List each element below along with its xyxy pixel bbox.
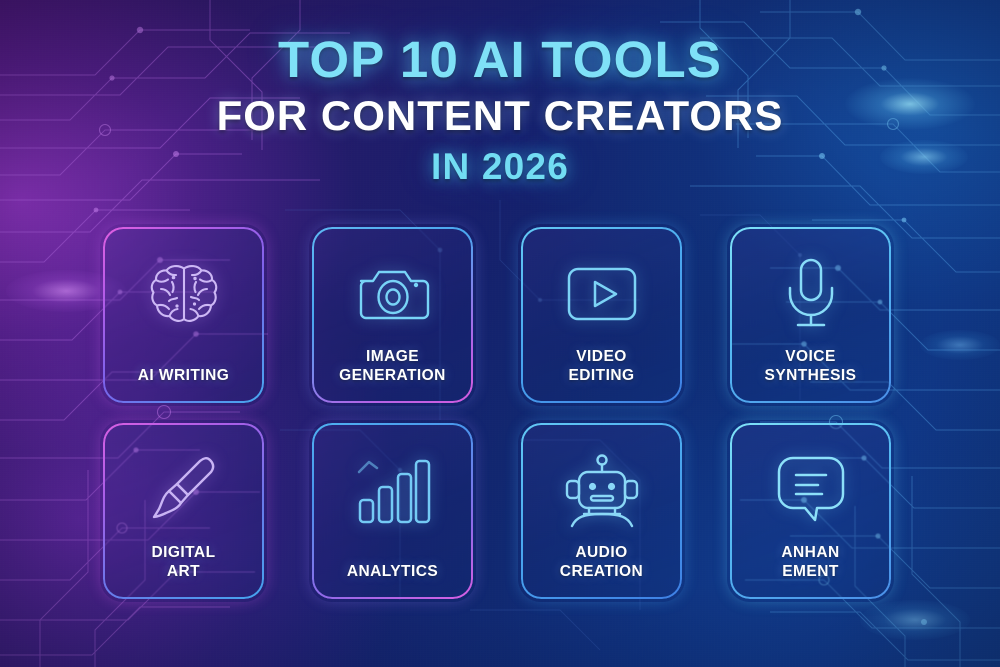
tool-card-video-editing[interactable]: VIDEO EDITING xyxy=(521,227,682,403)
tool-card-label: ANALYTICS xyxy=(347,563,438,581)
tool-card-label: VOICE SYNTHESIS xyxy=(765,348,857,385)
tool-card-grid: AI WRITING IMAGE GENERATION xyxy=(103,227,893,599)
bar-chart-icon xyxy=(320,443,465,537)
tool-card-ai-writing[interactable]: AI WRITING xyxy=(103,227,264,403)
title-line-3: IN 2026 xyxy=(0,148,1000,185)
tool-card-image-generation[interactable]: IMAGE GENERATION xyxy=(312,227,473,403)
tool-card-label: IMAGE GENERATION xyxy=(339,348,446,385)
tool-card-label: DIGITAL ART xyxy=(152,544,216,581)
tool-card-label: AI WRITING xyxy=(138,367,229,385)
camera-icon xyxy=(320,247,465,341)
poster-canvas: TOP 10 AI TOOLS FOR CONTENT CREATORS IN … xyxy=(0,0,1000,667)
title-line-1: TOP 10 AI TOOLS xyxy=(0,34,1000,85)
brain-icon xyxy=(111,247,256,341)
microphone-icon xyxy=(738,247,883,341)
poster-header: TOP 10 AI TOOLS FOR CONTENT CREATORS IN … xyxy=(0,34,1000,185)
title-line-2: FOR CONTENT CREATORS xyxy=(0,95,1000,137)
paintbrush-icon xyxy=(111,443,256,537)
tool-card-voice-synthesis[interactable]: VOICE SYNTHESIS xyxy=(730,227,891,403)
tool-card-label: VIDEO EDITING xyxy=(568,348,634,385)
tool-card-label: ANHAN EMENT xyxy=(781,544,839,581)
tool-card-enhancement[interactable]: ANHAN EMENT xyxy=(730,423,891,599)
tool-card-digital-art[interactable]: DIGITAL ART xyxy=(103,423,264,599)
glow-spot-center-right xyxy=(920,330,1000,360)
robot-icon xyxy=(529,443,674,537)
tool-card-audio-creation[interactable]: AUDIO CREATION xyxy=(521,423,682,599)
tool-card-label: AUDIO CREATION xyxy=(560,544,643,581)
play-screen-icon xyxy=(529,247,674,341)
chat-bubble-icon xyxy=(738,443,883,537)
tool-card-analytics[interactable]: ANALYTICS xyxy=(312,423,473,599)
glow-spot-bottom-right xyxy=(860,600,970,640)
